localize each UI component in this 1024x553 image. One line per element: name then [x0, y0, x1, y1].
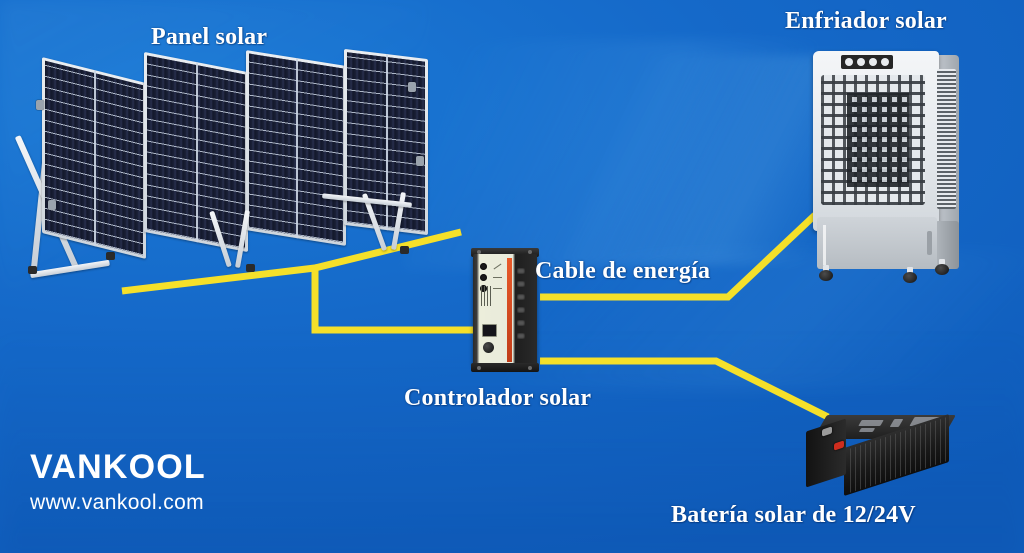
panel-clamp-right-low — [416, 156, 424, 166]
cooler-button-1[interactable] — [845, 58, 853, 66]
controller-terminal-6 — [517, 333, 525, 339]
controller-screw-tr — [528, 250, 532, 254]
panel-clamp-right-top — [408, 82, 416, 92]
panel-cell-divider-2 — [196, 62, 198, 242]
battery-label-2 — [859, 428, 875, 432]
cooler-caster-rear-right — [935, 259, 949, 275]
cooler-control-panel — [841, 55, 893, 69]
label-panel-solar: Panel solar — [151, 24, 267, 51]
controller-led-2 — [480, 274, 487, 281]
controller-mark-3 — [493, 288, 502, 289]
solar-panel-module-4 — [344, 49, 428, 235]
caster-wheel — [819, 270, 833, 281]
vankool-logo: VANKOOL www.vankool.com — [30, 450, 206, 513]
controller-display-screen — [482, 324, 497, 337]
controller-set-button — [483, 342, 494, 353]
label-controlador-solar: Controlador solar — [404, 385, 591, 412]
controller-terminal-4 — [517, 307, 525, 313]
panel-clamp-left-low — [48, 200, 56, 210]
diagram-canvas: Panel solar Enfriador solar Cable de ene… — [0, 0, 1024, 553]
cooler-front-grille — [821, 75, 925, 205]
solar-panel-assembly — [22, 52, 432, 277]
controller-red-stripe — [507, 258, 512, 362]
cooler-fan-mesh — [847, 93, 909, 187]
cooler-tank-handle[interactable] — [927, 231, 932, 255]
panel-cell-divider-1 — [94, 70, 96, 246]
label-bateria-solar: Batería solar de 12/24V — [671, 502, 916, 529]
controller-led-1 — [480, 263, 487, 270]
solar-air-cooler-device — [805, 45, 962, 285]
battery-label-1 — [858, 420, 883, 426]
cooler-tank-level-indicator — [823, 225, 826, 265]
panel-foot-right — [400, 246, 409, 254]
cable-panel-to-controller — [122, 268, 473, 330]
label-cable-de-energia: Cable de energía — [535, 258, 710, 285]
panel-cell-divider-3 — [296, 58, 298, 238]
cooler-side-louvers — [937, 69, 956, 209]
controller-terminal-1 — [517, 268, 525, 274]
label-enfriador-solar: Enfriador solar — [785, 8, 947, 35]
controller-terminal-2 — [517, 281, 525, 287]
solar-panel-module-1 — [42, 57, 146, 259]
controller-terminal-3 — [517, 294, 525, 300]
controller-terminal-5 — [517, 320, 525, 326]
solar-panel-module-2 — [144, 52, 248, 252]
controller-mark-2 — [493, 277, 502, 278]
controller-screw-bl — [477, 366, 481, 370]
controller-screw-br — [528, 366, 532, 370]
brand-website: www.vankool.com — [30, 492, 206, 513]
solar-controller-device — [473, 254, 537, 366]
cooler-caster-front-right — [903, 267, 917, 283]
solar-battery-device — [806, 415, 949, 488]
panel-clamp-left — [36, 100, 44, 110]
controller-screw-tl — [477, 250, 481, 254]
panel-foot-left — [28, 266, 37, 274]
cooler-button-4[interactable] — [881, 58, 889, 66]
panel-foot-left-rear — [106, 252, 115, 260]
cooler-button-3[interactable] — [869, 58, 877, 66]
cooler-caster-front-left — [819, 265, 833, 281]
brand-name: VANKOOL — [30, 450, 206, 484]
caster-wheel — [903, 272, 917, 283]
solar-panel-module-3 — [246, 50, 346, 246]
cooler-water-tank — [817, 217, 937, 269]
panel-foot-mid — [246, 264, 255, 272]
caster-wheel — [935, 264, 949, 275]
cooler-button-2[interactable] — [857, 58, 865, 66]
controller-label-print — [481, 286, 491, 306]
